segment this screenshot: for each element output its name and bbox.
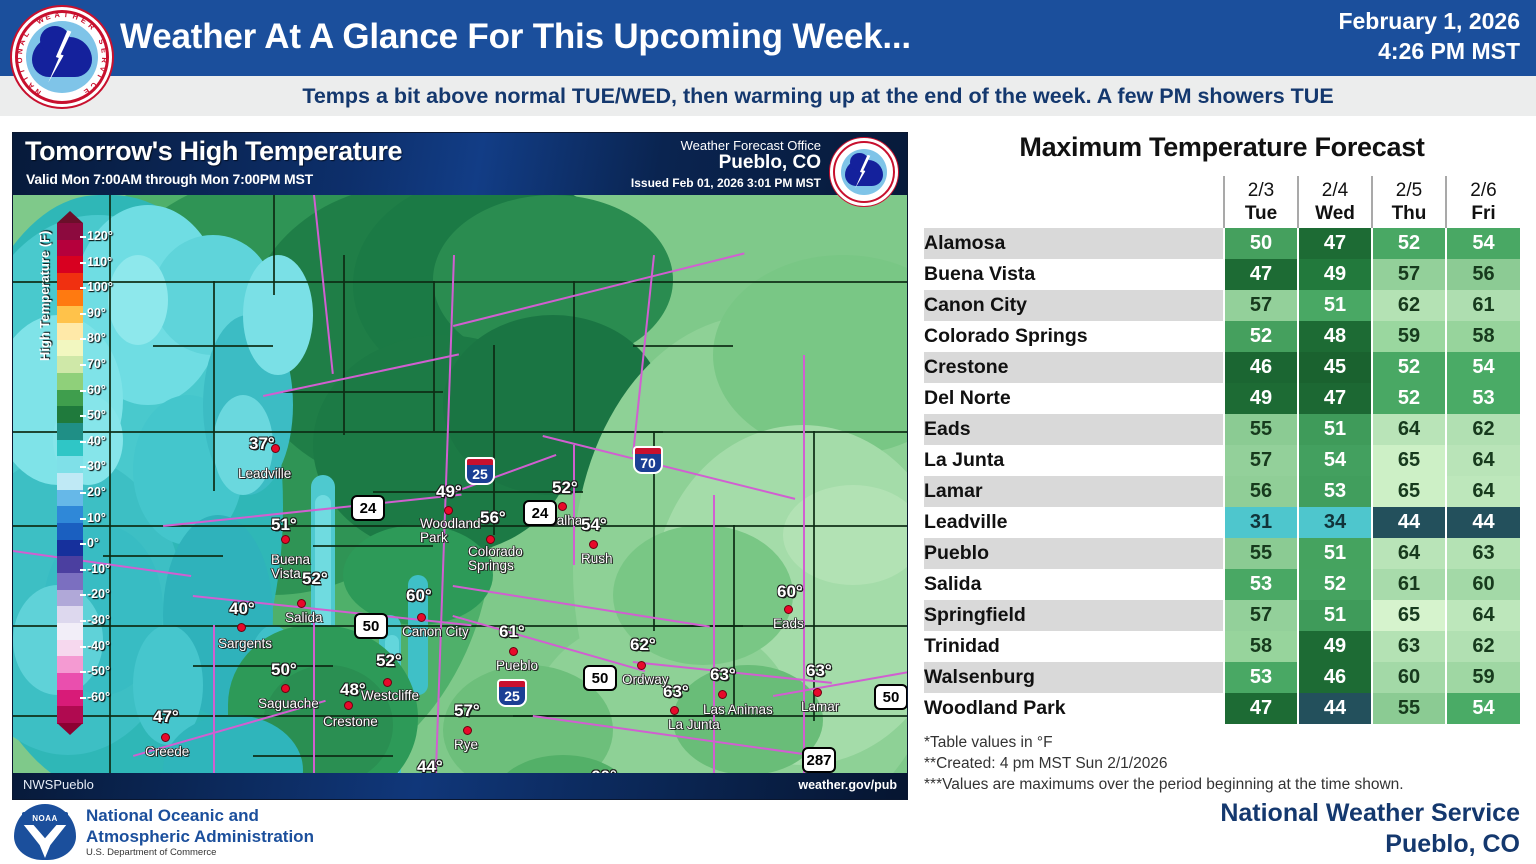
table-cell-temperature: 64 [1372,538,1446,569]
table-cell-city: Walsenburg [924,662,1224,693]
colorbar-segment [57,473,83,490]
table-cell-city: Del Norte [924,383,1224,414]
table-cell-temperature: 54 [1446,228,1520,259]
city-marker-dot[interactable] [297,599,306,608]
county-boundary [573,281,575,431]
table-cell-temperature: 52 [1224,321,1298,352]
table-cell-temperature: 51 [1298,538,1372,569]
noaa-wordmark: NOAA [22,812,68,825]
colorbar-segment [57,456,83,473]
city-name-label: La Junta [668,718,740,732]
table-cell-city: Pueblo [924,538,1224,569]
table-row: Springfield57516564 [924,600,1520,631]
colorbar-tick-label: 30° [87,459,106,473]
header-dayofweek: Fri [1447,202,1520,225]
colorbar-tick-label: 70° [87,357,106,371]
table-cell-temperature: 49 [1298,631,1372,662]
city-marker-dot[interactable] [589,540,598,549]
table-cell-city: Springfield [924,600,1224,631]
table-cell-temperature: 47 [1298,383,1372,414]
table-cell-temperature: 59 [1372,321,1446,352]
header-date: 2/3 [1225,179,1297,202]
subheader-bar: Temps a bit above normal TUE/WED, then w… [0,76,1536,116]
table-cell-city: Trinidad [924,631,1224,662]
table-row: Salida53526160 [924,569,1520,600]
map-title: Tomorrow's High Temperature [25,136,402,167]
city-name-label: Eads [773,617,804,630]
map-valid-period: Valid Mon 7:00AM through Mon 7:00PM MST [26,171,313,187]
header-date: 2/4 [1299,179,1371,202]
table-cell-city: Leadville [924,507,1224,538]
table-cell-temperature: 53 [1224,662,1298,693]
table-cell-temperature: 54 [1446,693,1520,724]
colorbar-segment [57,556,83,573]
forecast-table-title: Maximum Temperature Forecast [916,132,1528,163]
city-temperature-label: 60° [406,586,432,606]
colorbar-segment [57,306,83,323]
table-cell-temperature: 45 [1298,352,1372,383]
county-boundary [13,431,908,433]
table-cell-temperature: 48 [1298,321,1372,352]
table-cell-temperature: 55 [1224,414,1298,445]
table-cell-temperature: 54 [1298,445,1372,476]
table-cell-temperature: 55 [1224,538,1298,569]
city-name-label: Lamar [801,700,839,713]
colorbar-axis-label: High Temperature (F) [37,231,52,362]
city-temperature-label: 49° [436,482,462,502]
map-issued-time: Issued Feb 01, 2026 3:01 PM MST [631,176,821,190]
city-marker-dot[interactable] [463,726,472,735]
colorbar-segment [57,423,83,440]
nws-seal-icon-map [827,135,901,209]
city-temperature-label: 47° [153,707,179,727]
colorbar-segment [57,373,83,390]
map-office-name: Pueblo, CO [719,152,821,174]
colorbar-gradient [57,223,83,723]
table-cell-temperature: 57 [1224,290,1298,321]
interstate-shield-icon: 25 [497,679,527,707]
table-cell-city: Alamosa [924,228,1224,259]
city-name-label: Westcliffe [361,689,419,702]
city-temperature-label: 60° [777,582,803,602]
highway-number: 25 [504,688,520,704]
table-cell-city: Crestone [924,352,1224,383]
table-cell-temperature: 34 [1298,507,1372,538]
header-dayofweek: Tue [1225,202,1297,225]
header-date: 2/5 [1373,179,1445,202]
city-marker-dot[interactable] [637,661,646,670]
colorbar-tick-label: 0° [87,536,99,550]
page-title: Weather At A Glance For This Upcoming We… [120,8,1060,66]
table-cell-temperature: 53 [1224,569,1298,600]
table-cell-city: Woodland Park [924,693,1224,724]
table-cell-city: Lamar [924,476,1224,507]
colorbar-tick-label: 100° [87,280,113,294]
colorbar-tick-label: 60° [87,383,106,397]
city-name-label: Woodland Park [420,517,492,545]
city-marker-dot[interactable] [281,684,290,693]
colorbar-segment [57,673,83,690]
county-boundary [433,281,435,431]
interstate-shield-icon: 70 [633,446,663,474]
table-row: Pueblo55516463 [924,538,1520,569]
city-temperature-label: 52° [302,569,328,589]
table-cell-temperature: 58 [1446,321,1520,352]
colorbar-segment [57,573,83,590]
table-row: Walsenburg53466059 [924,662,1520,693]
city-name-label: Rush [581,552,613,565]
colorbar-segment [57,590,83,607]
colorbar-segment [57,256,83,273]
map-source-label: NWSPueblo [23,777,94,792]
county-boundary [213,281,215,491]
highway-number: 24 [532,505,549,522]
table-header-day-thu: 2/5Thu [1372,176,1446,228]
county-boundary [13,281,908,283]
table-row: Canon City57516261 [924,290,1520,321]
table-cell-temperature: 57 [1372,259,1446,290]
temperature-map-panel[interactable]: High Temperature (F)120°110°100°90°80°70… [12,132,908,800]
city-name-label: Creede [145,745,189,758]
footnote-1: *Table values in °F [924,732,1524,753]
header-dayofweek: Thu [1373,202,1445,225]
colorbar-segment [57,506,83,523]
table-cell-temperature: 50 [1224,228,1298,259]
colorbar-segment [57,390,83,407]
city-temperature-label: 63° [710,665,736,685]
city-marker-dot[interactable] [237,623,246,632]
us-highway-shield-icon: 50 [583,665,617,691]
footnote-2: **Created: 4 pm MST Sun 2/1/2026 [924,753,1524,774]
table-cell-temperature: 58 [1224,631,1298,662]
nws-seal-icon: NATIONAL WEATHER SERVICE [6,1,118,113]
table-cell-city: Salida [924,569,1224,600]
colorbar-segment [57,623,83,640]
city-name-label: Leadville [238,467,291,480]
table-cell-city: Canon City [924,290,1224,321]
city-marker-dot[interactable] [344,701,353,710]
city-name-label: Saguache [258,697,319,710]
table-cell-temperature: 60 [1372,662,1446,693]
city-name-label: Las Animas [703,703,775,717]
city-marker-dot[interactable] [509,647,518,656]
colorbar-tick-label: 50° [87,408,106,422]
highway-number: 287 [806,752,831,769]
table-cell-temperature: 44 [1298,693,1372,724]
city-temperature-label: 51° [271,515,297,535]
table-row: Eads55516462 [924,414,1520,445]
county-boundary [343,255,345,435]
table-row: Colorado Springs52485958 [924,321,1520,352]
table-row: Alamosa50475254 [924,228,1520,259]
table-cell-temperature: 61 [1446,290,1520,321]
colorbar-tick-label: -30° [87,613,110,627]
table-row: Buena Vista47495756 [924,259,1520,290]
colorbar-top-arrow [57,211,83,223]
table-row: Del Norte49475253 [924,383,1520,414]
table-cell-city: Colorado Springs [924,321,1224,352]
table-footnotes: *Table values in °F**Created: 4 pm MST S… [924,732,1524,795]
city-name-label: Rye [454,738,478,751]
table-cell-temperature: 61 [1372,569,1446,600]
table-cell-temperature: 47 [1224,693,1298,724]
table-cell-temperature: 59 [1446,662,1520,693]
city-temperature-label: 37° [249,434,275,454]
us-highway-shield-icon: 287 [802,747,836,773]
city-name-label: Crestone [323,715,378,728]
table-cell-temperature: 46 [1298,662,1372,693]
highway-number: 25 [472,466,488,482]
highway-number: 50 [883,689,900,706]
table-cell-temperature: 46 [1224,352,1298,383]
table-cell-temperature: 47 [1224,259,1298,290]
header-dayofweek: Wed [1299,202,1371,225]
table-cell-city: Eads [924,414,1224,445]
colorbar-tick-label: -20° [87,587,110,601]
footnote-3: ***Values are maximums over the period b… [924,774,1524,795]
city-marker-dot[interactable] [784,605,793,614]
city-marker-dot[interactable] [417,613,426,622]
us-highway-shield-icon: 24 [351,495,385,521]
table-cell-temperature: 31 [1224,507,1298,538]
table-cell-temperature: 57 [1224,445,1298,476]
city-temperature-label: 62° [630,635,656,655]
map-footer: NWSPueblo weather.gov/pub [13,773,908,799]
colorbar-tick-label: 120° [87,229,113,243]
table-cell-city: La Junta [924,445,1224,476]
colorbar-tick-label: 90° [87,306,106,320]
table-cell-temperature: 47 [1298,228,1372,259]
footer-org-location: Pueblo, CO [1220,829,1520,860]
city-marker-dot[interactable] [383,678,392,687]
table-cell-city: Buena Vista [924,259,1224,290]
table-cell-temperature: 55 [1372,693,1446,724]
table-cell-temperature: 64 [1372,414,1446,445]
county-boundary [283,391,443,393]
table-cell-temperature: 62 [1446,414,1520,445]
colorbar-segment [57,340,83,357]
map-titlebar: Tomorrow's High Temperature Valid Mon 7:… [13,133,908,195]
table-cell-temperature: 57 [1224,600,1298,631]
map-office-label: Weather Forecast Office [681,138,821,153]
table-cell-temperature: 51 [1298,290,1372,321]
county-boundary [373,491,493,493]
noaa-line-1: National Oceanic and [86,805,314,826]
table-header-day-tue: 2/3Tue [1224,176,1298,228]
city-temperature-label: 40° [229,599,255,619]
table-row: Trinidad58496362 [924,631,1520,662]
table-cell-temperature: 52 [1372,383,1446,414]
table-cell-temperature: 44 [1446,507,1520,538]
table-header: 2/3Tue2/4Wed2/5Thu2/6Fri [924,176,1520,228]
max-temperature-forecast-table: 2/3Tue2/4Wed2/5Thu2/6Fri Alamosa50475254… [924,176,1520,724]
table-cell-temperature: 56 [1224,476,1298,507]
table-cell-temperature: 51 [1298,414,1372,445]
city-marker-dot[interactable] [161,733,170,742]
county-boundary [493,345,495,535]
highway-line [573,445,575,565]
city-name-label: Sargents [218,637,272,650]
colorbar-bottom-arrow [57,723,83,735]
terrain-region [243,255,313,375]
highway-number: 24 [360,500,377,517]
table-cell-temperature: 52 [1298,569,1372,600]
temperature-colorbar: High Temperature (F)120°110°100°90°80°70… [37,211,145,759]
highway-line [213,625,215,775]
city-marker-dot[interactable] [444,506,453,515]
colorbar-tick-label: 40° [87,434,106,448]
table-cell-temperature: 54 [1446,352,1520,383]
colorbar-tick-label: 10° [87,511,106,525]
noaa-line-2: Atmospheric Administration [86,826,314,847]
colorbar-segment [57,523,83,540]
table-row: La Junta57546564 [924,445,1520,476]
table-cell-temperature: 44 [1372,507,1446,538]
table-row: Leadville31344444 [924,507,1520,538]
table-row: Woodland Park47445554 [924,693,1520,724]
colorbar-tick-label: -60° [87,690,110,704]
table-cell-temperature: 49 [1298,259,1372,290]
city-temperature-label: 63° [806,661,832,681]
noaa-logo-icon: NOAA [14,804,76,860]
county-boundary [273,195,275,295]
city-name-label: Ordway [622,673,669,686]
colorbar-segment [57,640,83,657]
county-boundary [313,545,433,547]
city-temperature-label: 57° [454,701,480,721]
table-header-day-wed: 2/4Wed [1298,176,1372,228]
table-cell-temperature: 51 [1298,600,1372,631]
page-header: Weather At A Glance For This Upcoming We… [0,0,1536,76]
table-cell-temperature: 62 [1446,631,1520,662]
table-cell-temperature: 64 [1446,445,1520,476]
colorbar-segment [57,706,83,723]
table-header-city [924,176,1224,228]
table-cell-temperature: 56 [1446,259,1520,290]
colorbar-segment [57,240,83,257]
highway-number: 50 [363,618,380,635]
colorbar-tick-label: 80° [87,331,106,345]
highway-line [313,615,315,775]
us-highway-shield-icon: 24 [523,500,557,526]
city-temperature-label: 54° [581,515,607,535]
table-cell-temperature: 63 [1372,631,1446,662]
city-name-label: Salida [285,611,323,624]
city-temperature-label: 50° [271,660,297,680]
header-datetime: February 1, 2026 4:26 PM MST [1338,6,1520,66]
footer-org-name: National Weather Service [1220,798,1520,829]
table-cell-temperature: 63 [1446,538,1520,569]
table-cell-temperature: 60 [1446,569,1520,600]
table-cell-temperature: 52 [1372,352,1446,383]
header-date: 2/6 [1447,179,1520,202]
city-marker-dot[interactable] [813,688,822,697]
forecast-table-panel: Maximum Temperature Forecast 2/3Tue2/4We… [916,132,1528,800]
page-footer: NOAA National Oceanic and Atmospheric Ad… [0,800,1536,864]
noaa-agency-name: National Oceanic and Atmospheric Adminis… [86,805,314,847]
city-name-label: Colorado Springs [468,545,540,573]
county-boundary [733,525,735,715]
table-cell-temperature: 65 [1372,600,1446,631]
colorbar-tick-label: 20° [87,485,106,499]
table-cell-temperature: 64 [1446,476,1520,507]
county-boundary [153,345,273,347]
colorbar-tick-label: 110° [87,255,112,269]
city-name-label: Canon City [402,625,474,639]
us-highway-shield-icon: 50 [354,613,388,639]
table-header-day-fri: 2/6Fri [1446,176,1520,228]
table-cell-temperature: 49 [1224,383,1298,414]
colorbar-tick-label: -50° [87,664,110,678]
table-cell-temperature: 52 [1372,228,1446,259]
highway-number: 50 [592,670,609,687]
city-temperature-label: 52° [376,651,402,671]
table-cell-temperature: 64 [1446,600,1520,631]
city-marker-dot[interactable] [558,502,567,511]
table-cell-temperature: 53 [1298,476,1372,507]
highway-line [713,495,715,775]
table-cell-temperature: 62 [1372,290,1446,321]
table-cell-temperature: 65 [1372,476,1446,507]
map-canvas[interactable]: High Temperature (F)120°110°100°90°80°70… [13,195,908,775]
county-boundary [253,755,393,757]
highway-number: 70 [640,455,656,471]
colorbar-segment [57,290,83,307]
table-row: Crestone46455254 [924,352,1520,383]
city-name-label: Pueblo [496,659,538,672]
colorbar-tick-label: -40° [87,639,110,653]
us-highway-shield-icon: 50 [874,684,908,710]
table-row: Lamar56536564 [924,476,1520,507]
header-date: February 1, 2026 [1338,6,1520,36]
city-temperature-label: 61° [499,622,525,642]
noaa-department: U.S. Department of Commerce [86,847,216,858]
city-marker-dot[interactable] [281,535,290,544]
colorbar-tick-label: -10° [87,562,110,576]
footer-office: National Weather Service Pueblo, CO [1220,798,1520,860]
map-website-label: weather.gov/pub [798,778,897,792]
county-boundary [573,431,663,433]
header-time: 4:26 PM MST [1338,36,1520,66]
city-marker-dot[interactable] [670,706,679,715]
table-cell-temperature: 65 [1372,445,1446,476]
city-temperature-label: 52° [552,478,578,498]
interstate-shield-icon: 25 [465,457,495,485]
table-body: Alamosa50475254Buena Vista47495756Canon … [924,228,1520,724]
subheader-text: Temps a bit above normal TUE/WED, then w… [0,76,1536,116]
table-cell-temperature: 53 [1446,383,1520,414]
city-marker-dot[interactable] [718,690,727,699]
county-boundary [633,345,733,347]
